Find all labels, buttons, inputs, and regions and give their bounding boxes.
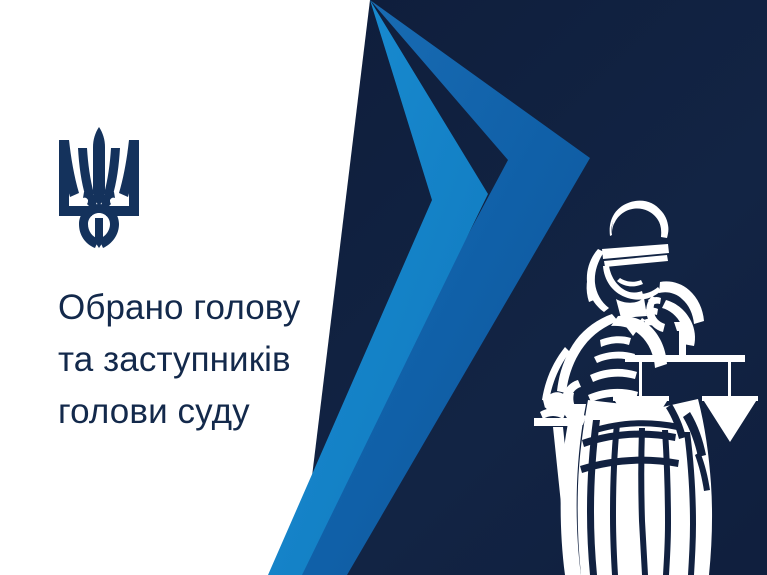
background-artwork bbox=[0, 0, 767, 575]
banner-root: Обрано голову та заступників голови суду bbox=[0, 0, 767, 575]
